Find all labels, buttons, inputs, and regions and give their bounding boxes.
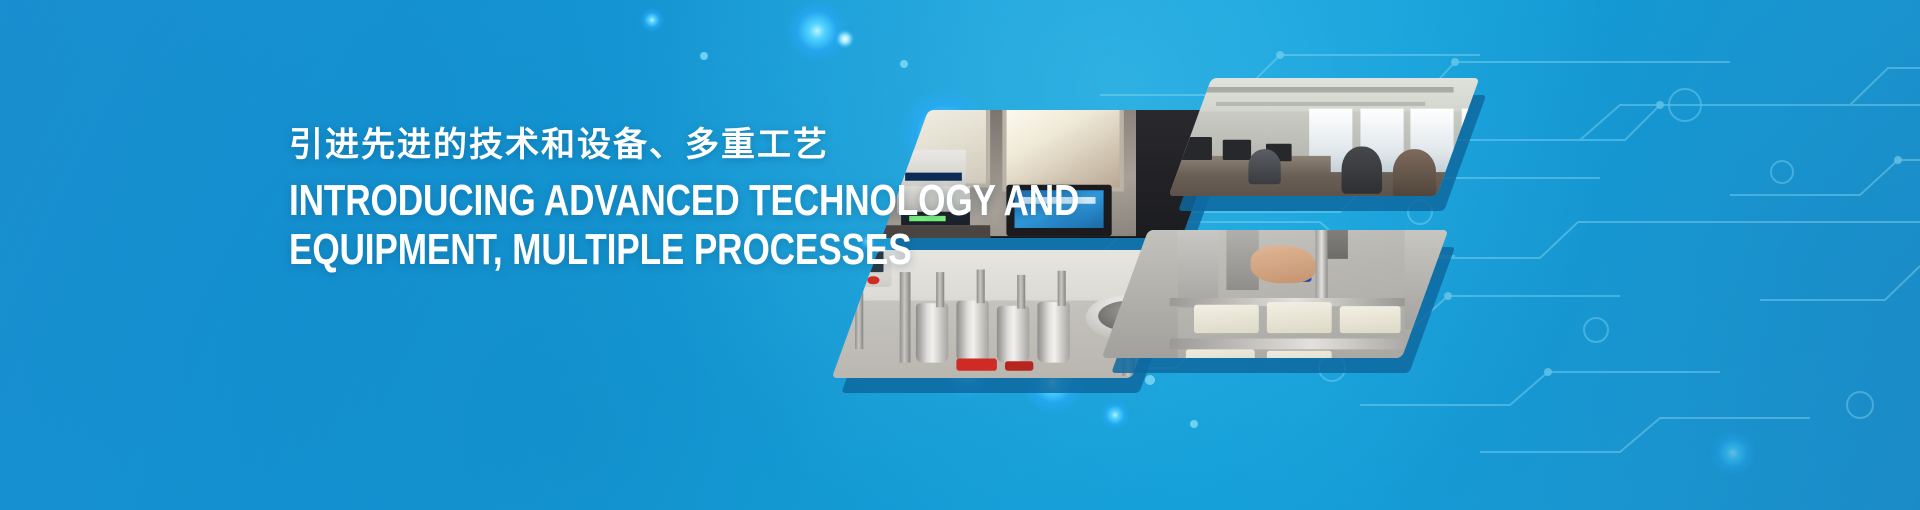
glow-dot [640, 8, 664, 32]
person-silhouette [1393, 150, 1436, 196]
promo-banner: 引进先进的技术和设备、多重工艺 INTRODUCING ADVANCED TEC… [0, 0, 1920, 510]
person-silhouette [1342, 147, 1382, 195]
glow-dot [1145, 375, 1155, 385]
headline-block: 引进先进的技术和设备、多重工艺 INTRODUCING ADVANCED TEC… [289, 124, 1277, 272]
glow-dot [836, 30, 854, 48]
headline-english: INTRODUCING ADVANCED TECHNOLOGY AND EQUI… [289, 179, 1079, 272]
glow-dot [786, 0, 848, 62]
glow-dot [900, 60, 908, 68]
glow-dot [1710, 430, 1756, 476]
person-silhouette [1447, 153, 1479, 196]
glow-dot [1100, 400, 1130, 430]
glow-dot [700, 52, 708, 60]
headline-english-line-1: INTRODUCING ADVANCED TECHNOLOGY AND [289, 179, 1079, 223]
headline-english-line-2: EQUIPMENT, MULTIPLE PROCESSES [289, 228, 1079, 272]
glow-dot [1190, 420, 1198, 428]
headline-chinese: 引进先进的技术和设备、多重工艺 [289, 124, 1277, 167]
